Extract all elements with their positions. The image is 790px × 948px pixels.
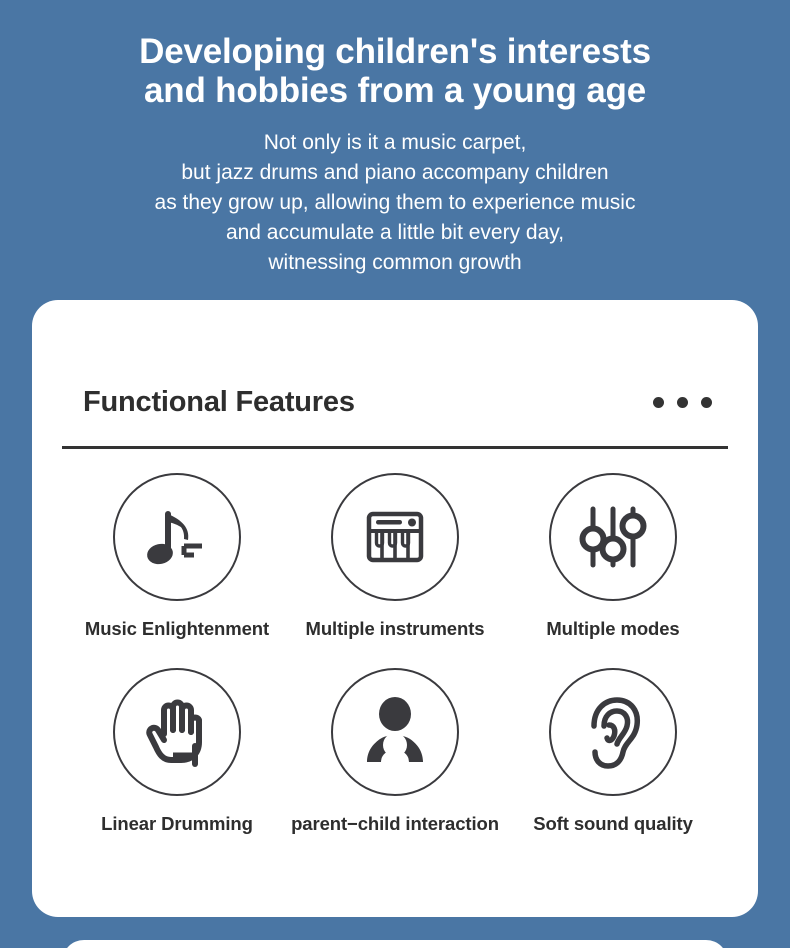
functional-features-card: Functional Features xyxy=(32,300,758,917)
feature-icon-frame xyxy=(113,668,241,796)
feature-label: Music Enlightenment xyxy=(85,618,269,640)
feature-label: Multiple instruments xyxy=(306,618,485,640)
feature-item-parent-child-interaction[interactable]: parent−child interaction xyxy=(286,668,504,835)
sliders-icon xyxy=(575,499,651,575)
feature-item-soft-sound-quality[interactable]: Soft sound quality xyxy=(504,668,722,835)
kebab-dot-1 xyxy=(653,397,664,408)
page-title: Developing children's interests and hobb… xyxy=(0,32,790,110)
piano-keyboard-icon xyxy=(358,500,432,574)
page-title-line-2: and hobbies from a young age xyxy=(60,71,730,110)
page-subtitle: Not only is it a music carpet, but jazz … xyxy=(0,128,790,278)
card-header: Functional Features xyxy=(32,300,758,419)
feature-icon-frame xyxy=(113,473,241,601)
feature-item-music-enlightenment[interactable]: Music Enlightenment xyxy=(68,473,286,640)
feature-grid-row-2: Linear Drumming xyxy=(32,640,758,835)
music-note-icon xyxy=(138,498,216,576)
page-subtitle-line-2: but jazz drums and piano accompany child… xyxy=(0,158,790,188)
page-title-line-1: Developing children's interests xyxy=(60,32,730,71)
kebab-dot-2 xyxy=(677,397,688,408)
feature-label: Soft sound quality xyxy=(533,813,693,835)
feature-label: Linear Drumming xyxy=(101,813,253,835)
feature-item-multiple-modes[interactable]: Multiple modes xyxy=(504,473,722,640)
feature-icon-frame xyxy=(331,668,459,796)
feature-icon-frame xyxy=(549,668,677,796)
kebab-dot-3 xyxy=(701,397,712,408)
feature-item-linear-drumming[interactable]: Linear Drumming xyxy=(68,668,286,835)
feature-grid-row-1: Music Enlightenment xyxy=(32,449,758,640)
hero-section: Developing children's interests and hobb… xyxy=(0,0,790,278)
feature-icon-frame xyxy=(331,473,459,601)
parent-child-icon xyxy=(355,692,435,772)
next-section-card xyxy=(62,940,728,948)
feature-label: Multiple modes xyxy=(546,618,679,640)
card-title: Functional Features xyxy=(83,386,355,419)
ear-icon xyxy=(579,692,647,772)
page-subtitle-line-1: Not only is it a music carpet, xyxy=(0,128,790,158)
page-subtitle-line-3: as they grow up, allowing them to experi… xyxy=(0,188,790,218)
kebab-menu-icon[interactable] xyxy=(653,397,726,408)
feature-label: parent−child interaction xyxy=(291,813,499,835)
page-subtitle-line-4: and accumulate a little bit every day, xyxy=(0,218,790,248)
feature-icon-frame xyxy=(549,473,677,601)
hand-icon xyxy=(141,694,213,770)
page-subtitle-line-5: witnessing common growth xyxy=(0,248,790,278)
feature-item-multiple-instruments[interactable]: Multiple instruments xyxy=(286,473,504,640)
